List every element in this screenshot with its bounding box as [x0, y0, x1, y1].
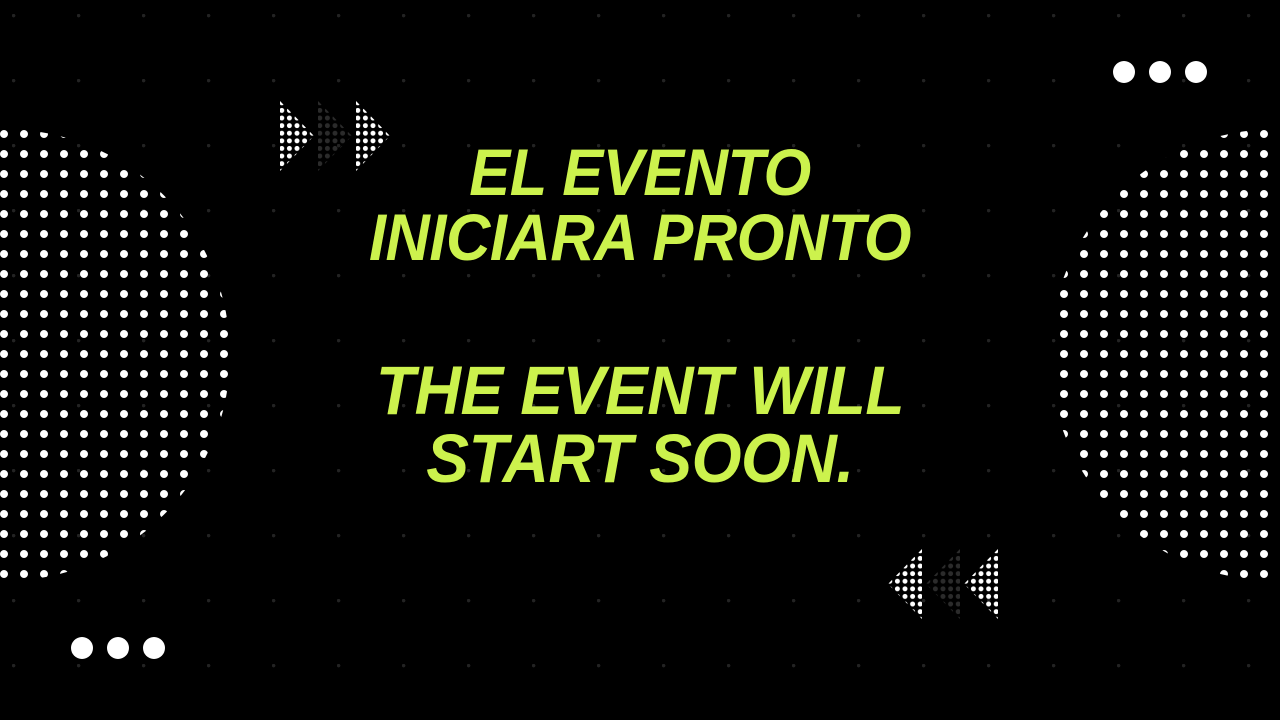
- event-standby-slate: EL EVENTO INICIARA PRONTO THE EVENT WILL…: [0, 0, 1280, 720]
- standby-message-english: THE EVENT WILL START SOON.: [175, 357, 1105, 492]
- background-dot-grid: [0, 0, 1280, 720]
- dot-triplet-top-right: [1113, 61, 1207, 83]
- play-arrow-right-icon: [354, 99, 392, 173]
- standby-message-spanish: EL EVENTO INICIARA PRONTO: [175, 140, 1105, 269]
- halftone-circle-left: [0, 129, 230, 581]
- play-arrow-left-icon: [886, 547, 924, 621]
- dot-icon: [107, 637, 129, 659]
- standby-message-block: EL EVENTO INICIARA PRONTO THE EVENT WILL…: [0, 0, 1280, 720]
- dot-icon: [1185, 61, 1207, 83]
- dot-icon: [1149, 61, 1171, 83]
- play-arrow-right-icon: [316, 99, 354, 173]
- play-arrow-left-icon: [924, 547, 962, 621]
- dot-triplet-bottom-left: [71, 637, 165, 659]
- dot-icon: [1113, 61, 1135, 83]
- dot-icon: [143, 637, 165, 659]
- halftone-circle-right: [1050, 129, 1280, 581]
- play-arrow-left-icon: [962, 547, 1000, 621]
- rewind-arrows-icon: [886, 547, 1000, 621]
- play-arrow-right-icon: [278, 99, 316, 173]
- dot-icon: [71, 637, 93, 659]
- fast-forward-arrows-icon: [278, 99, 392, 173]
